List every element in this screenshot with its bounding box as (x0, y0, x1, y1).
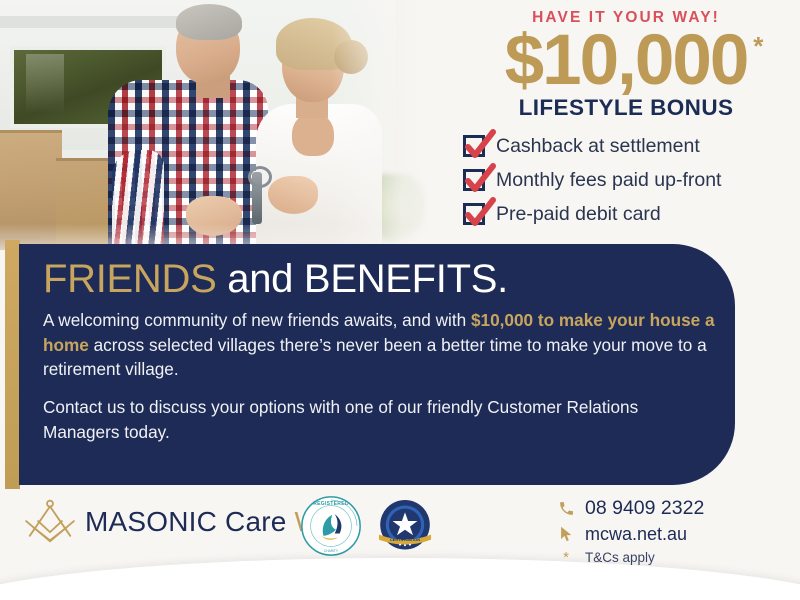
advertisement: HAVE IT YOUR WAY! $10,000* LIFESTYLE BON… (0, 0, 800, 600)
checkbox-checked-icon (463, 169, 485, 191)
contact-details: 08 9409 2322 mcwa.net.au * T&Cs apply (556, 497, 704, 570)
phone-number: 08 9409 2322 (585, 497, 704, 520)
photo-woman-neckline (292, 112, 334, 156)
brand-lockup: MASONIC Care WA (22, 499, 339, 545)
panel-paragraph-1-part1: A welcoming community of new friends awa… (43, 310, 471, 330)
svg-text:CERTIFICATION: CERTIFICATION (390, 537, 420, 542)
benefits-checklist: Cashback at settlement Monthly fees paid… (463, 130, 793, 232)
checklist-item-label: Pre-paid debit card (496, 203, 661, 226)
brand-care: Care (217, 506, 286, 537)
photo-house-keys (252, 172, 262, 224)
gold-accent-bar (5, 240, 20, 489)
promo-amount: $10,000* (505, 25, 748, 97)
checklist-item-label: Cashback at settlement (496, 135, 700, 158)
promo-amount-value: $10,000 (505, 21, 748, 100)
checklist-item: Monthly fees paid up-front (463, 164, 793, 196)
certification-of-compliance-badge-icon: CERTIFICATION (374, 495, 436, 557)
footer: MASONIC Care WA REGISTERED CHARITY (0, 489, 800, 600)
contact-phone-row[interactable]: 08 9409 2322 (556, 497, 704, 520)
message-panel: FRIENDS and BENEFITS. A welcoming commun… (19, 244, 735, 485)
checklist-item: Cashback at settlement (463, 130, 793, 162)
photo-man-hair (176, 4, 242, 40)
panel-paragraph-1-part2: across selected villages there’s never b… (43, 335, 707, 379)
svg-text:CHARITY: CHARITY (324, 549, 339, 553)
photo-woman-hand (268, 176, 318, 214)
cursor-pointer-icon (556, 526, 576, 543)
promo-block: HAVE IT YOUR WAY! $10,000* LIFESTYLE BON… (452, 0, 800, 121)
contact-website-row[interactable]: mcwa.net.au (556, 524, 704, 545)
panel-body: A welcoming community of new friends awa… (43, 308, 715, 444)
checklist-item-label: Monthly fees paid up-front (496, 169, 721, 192)
checkbox-checked-icon (463, 203, 485, 225)
registered-charity-badge-icon: REGISTERED CHARITY (300, 495, 362, 557)
promo-asterisk: * (753, 33, 763, 60)
panel-title-gold: FRIENDS (43, 257, 216, 301)
masonic-square-and-compass-icon (22, 499, 78, 545)
svg-text:REGISTERED: REGISTERED (313, 501, 349, 507)
brand-masonic: MASONIC (85, 506, 217, 537)
hero-photo-couple-with-keys (0, 0, 452, 250)
panel-paragraph-1: A welcoming community of new friends awa… (43, 308, 715, 381)
website-url: mcwa.net.au (585, 524, 687, 545)
photo-right-fade (332, 0, 452, 250)
checkbox-checked-icon (463, 135, 485, 157)
panel-title: FRIENDS and BENEFITS. (43, 258, 735, 301)
checklist-item: Pre-paid debit card (463, 198, 793, 230)
panel-title-white: and BENEFITS. (216, 257, 507, 301)
accreditation-badges: REGISTERED CHARITY CERTIFICATION (300, 495, 436, 557)
panel-paragraph-2: Contact us to discuss your options with … (43, 395, 715, 444)
phone-icon (556, 500, 576, 517)
